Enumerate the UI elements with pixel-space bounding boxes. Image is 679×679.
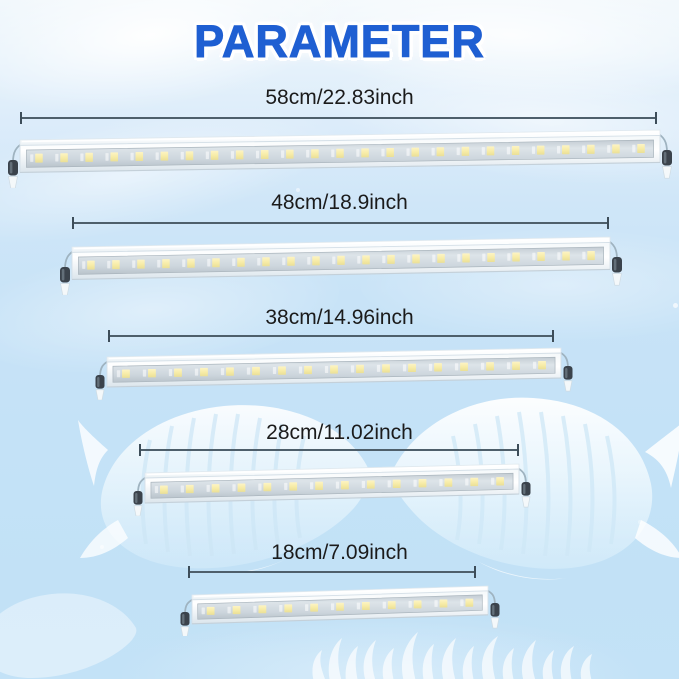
dimension-line-rule — [188, 571, 476, 573]
dimension-line-rule — [72, 222, 609, 224]
dimension-label-18cm: 18cm/7.09inch — [0, 541, 679, 565]
dimension-line-38cm — [108, 330, 554, 342]
led-bar-graphic — [60, 233, 622, 295]
dimension-tick-left — [72, 217, 74, 229]
dimension-tick-left — [20, 112, 22, 124]
dimension-label-38cm: 38cm/14.96inch — [0, 306, 679, 330]
dimension-tick-right — [655, 112, 657, 124]
fish-silhouette-small — [0, 588, 146, 679]
dimension-line-rule — [108, 335, 554, 337]
dimension-tick-left — [188, 566, 190, 578]
coral-silhouette — [296, 630, 606, 679]
dimension-tick-left — [139, 444, 141, 456]
bubble — [638, 520, 642, 524]
led-bar-graphic — [133, 460, 531, 516]
product-led-bar-58cm[interactable] — [8, 126, 672, 188]
led-bar-graphic — [180, 582, 500, 636]
led-bar-graphic — [95, 344, 573, 400]
product-led-bar-28cm[interactable] — [133, 460, 531, 516]
dimension-line-58cm — [20, 112, 657, 124]
dimension-tick-right — [517, 444, 519, 456]
page-title: PARAMETER — [0, 16, 679, 68]
dimension-line-28cm — [139, 444, 519, 456]
dimension-tick-left — [108, 330, 110, 342]
dimension-tick-right — [552, 330, 554, 342]
infographic-canvas: PARAMETER 58cm/22.83inch 48cm/18.9inch 3… — [0, 0, 679, 679]
dimension-label-48cm: 48cm/18.9inch — [0, 191, 679, 215]
dimension-tick-right — [607, 217, 609, 229]
dimension-label-28cm: 28cm/11.02inch — [0, 421, 679, 445]
product-led-bar-38cm[interactable] — [95, 344, 573, 400]
dimension-line-18cm — [188, 566, 476, 578]
led-bar-graphic — [8, 126, 672, 188]
product-led-bar-18cm[interactable] — [180, 582, 500, 636]
dimension-line-rule — [139, 449, 519, 451]
dimension-label-58cm: 58cm/22.83inch — [0, 86, 679, 110]
dimension-line-rule — [20, 117, 657, 119]
product-led-bar-48cm[interactable] — [60, 233, 622, 295]
dimension-tick-right — [474, 566, 476, 578]
dimension-line-48cm — [72, 217, 609, 229]
